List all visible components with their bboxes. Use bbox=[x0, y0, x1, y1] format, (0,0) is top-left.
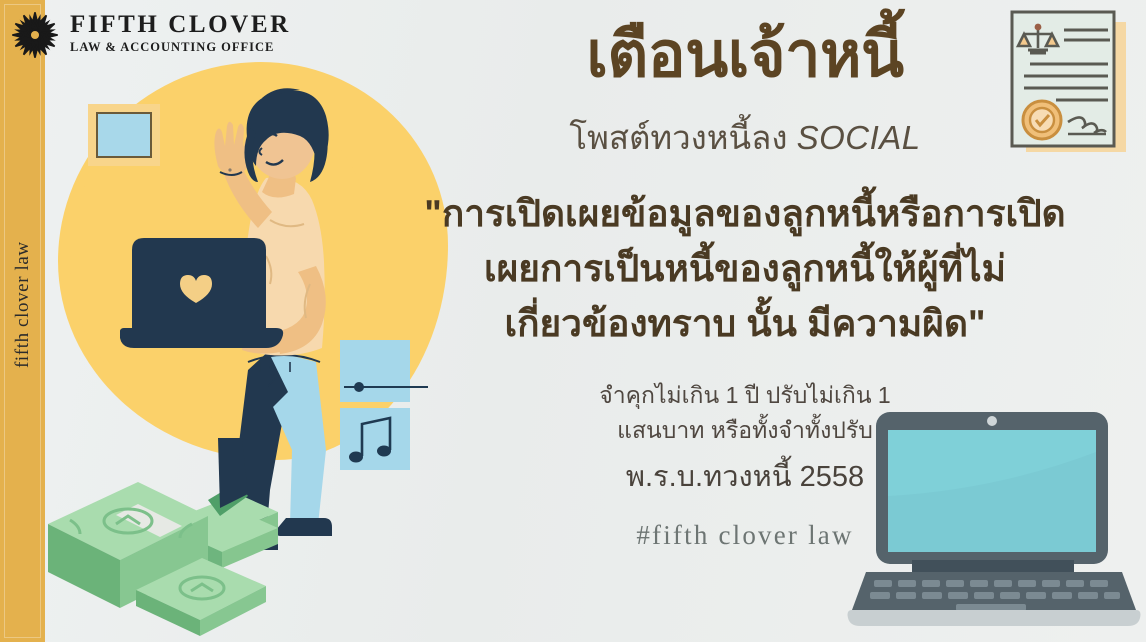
brand-name: FIFTH CLOVER bbox=[70, 11, 330, 38]
hashtag: #fifth clover law bbox=[395, 520, 1095, 551]
subheadline-latin: SOCIAL bbox=[797, 119, 921, 156]
left-gold-rail: fifth clover law bbox=[0, 0, 45, 642]
quote-line-3: เกี่ยวข้องทราบ นั้น มีความผิด" bbox=[395, 296, 1095, 351]
brand-logo: FIFTH CLOVER LAW & ACCOUNTING OFFICE bbox=[8, 8, 338, 62]
text-content-column: เตือนเจ้าหนี้ โพสต์ทวงหนี้ลง SOCIAL "การ… bbox=[395, 0, 1095, 642]
act-reference: พ.ร.บ.ทวงหนี้ 2558 bbox=[395, 456, 1095, 498]
rail-vertical-brand-text: fifth clover law bbox=[6, 190, 40, 420]
subheadline: โพสต์ทวงหนี้ลง SOCIAL bbox=[395, 116, 1095, 160]
penalty-block: จำคุกไม่เกิน 1 ปี ปรับไม่เกิน 1 แสนบาท ห… bbox=[395, 378, 1095, 448]
penalty-line-2: แสนบาท หรือทั้งจำทั้งปรับ bbox=[395, 413, 1095, 448]
quote-block: "การเปิดเผยข้อมูลของลูกหนี้หรือการเปิด เ… bbox=[395, 186, 1095, 351]
brand-tagline: LAW & ACCOUNTING OFFICE bbox=[70, 38, 330, 56]
stacked-banknotes-illustration bbox=[42, 438, 310, 642]
poster-canvas: fifth clover law bbox=[0, 0, 1146, 642]
starburst-clover-icon bbox=[8, 8, 62, 62]
subheadline-thai: โพสต์ทวงหนี้ลง bbox=[569, 119, 796, 156]
page-title: เตือนเจ้าหนี้ bbox=[395, 16, 1095, 94]
penalty-line-1: จำคุกไม่เกิน 1 ปี ปรับไม่เกิน 1 bbox=[395, 378, 1095, 413]
quote-line-1: "การเปิดเผยข้อมูลของลูกหนี้หรือการเปิด bbox=[395, 186, 1095, 241]
quote-line-2: เผยการเป็นหนี้ของลูกหนี้ให้ผู้ที่ไม่ bbox=[395, 241, 1095, 296]
brand-logo-text: FIFTH CLOVER LAW & ACCOUNTING OFFICE bbox=[70, 11, 330, 56]
